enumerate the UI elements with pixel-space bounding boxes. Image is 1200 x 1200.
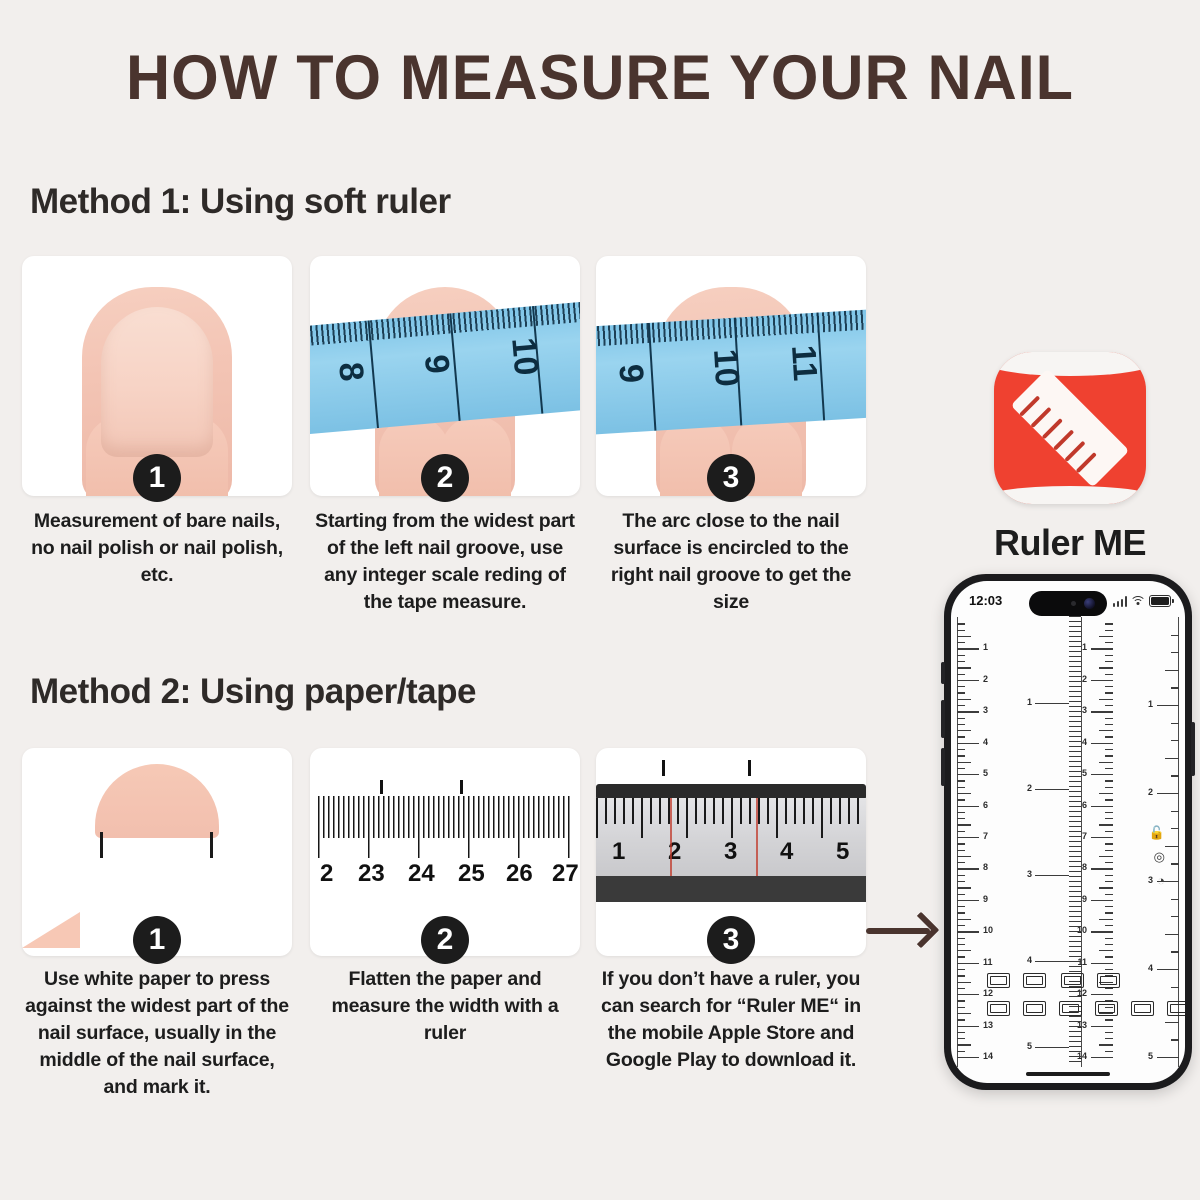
scale-minor-tick [1099, 856, 1113, 857]
scale-label: 1 [983, 642, 988, 652]
scale-minor-tick [957, 956, 965, 957]
scale-tick [1091, 994, 1113, 995]
scale-minor-tick [957, 749, 965, 750]
scale-minor-tick [957, 699, 971, 700]
scale-label: 6 [983, 800, 988, 810]
paper-mark-left [662, 760, 665, 776]
app-name-label: Ruler ME [940, 522, 1200, 564]
scale-tick [957, 806, 979, 807]
scale-minor-tick [1105, 912, 1113, 913]
scale-minor-tick [1105, 1032, 1113, 1033]
center-scale-tick [1035, 703, 1069, 704]
scale-minor-tick [957, 755, 965, 756]
scale-minor-tick [1105, 938, 1113, 939]
scale-label: 4 [983, 737, 988, 747]
center-scale-label: 1 [1027, 697, 1032, 707]
tape-measure: 8 9 10 [310, 301, 580, 435]
scale-minor-tick [1099, 636, 1113, 637]
scale-label: 5 [1082, 768, 1087, 778]
scale-tick [1091, 743, 1113, 744]
chip [1059, 1001, 1082, 1016]
tape-number: 11 [783, 344, 824, 382]
ruler-number: 23 [358, 860, 385, 888]
scale-minor-tick [957, 623, 965, 624]
scale-minor-tick [957, 718, 965, 719]
infographic-page: HOW TO MEASURE YOUR NAIL Method 1: Using… [0, 0, 1200, 1200]
scale-tick [957, 1057, 979, 1058]
camera-icon[interactable]: ◎ [1154, 849, 1165, 865]
scale-tick [1091, 806, 1113, 807]
ruler-number: 1 [612, 838, 625, 866]
scale-minor-tick [1099, 667, 1113, 668]
scale-tick [957, 994, 979, 995]
nail-through-paper [95, 764, 219, 838]
paper-mark-right [460, 780, 463, 794]
scale-minor-tick [957, 982, 971, 983]
method-2-heading: Method 2: Using paper/tape [30, 672, 476, 712]
scale-tick [1091, 837, 1113, 838]
scale-minor-tick [1105, 1038, 1113, 1039]
scale-minor-tick [1105, 718, 1113, 719]
scale-minor-tick [957, 818, 965, 819]
chip [987, 1001, 1010, 1016]
scale-minor-tick [957, 787, 965, 788]
scale-minor-tick [957, 1000, 965, 1001]
scale-minor-tick [1105, 812, 1113, 813]
tape-number: 10 [705, 348, 746, 388]
nail-plate [101, 307, 213, 457]
scale-minor-tick [1165, 670, 1179, 671]
chip [1095, 1001, 1118, 1016]
ruler-app-icon[interactable] [994, 352, 1146, 504]
pencil-mark-right [210, 832, 213, 858]
chip [1167, 1001, 1185, 1016]
scale-minor-tick [957, 894, 965, 895]
scale-minor-tick [1165, 934, 1179, 935]
center-scale-tick [1035, 789, 1069, 790]
scale-minor-tick [1171, 740, 1179, 741]
scale-minor-tick [1171, 652, 1179, 653]
scale-minor-tick [1171, 775, 1179, 776]
scale-minor-tick [957, 655, 965, 656]
scale-label: 7 [1082, 831, 1087, 841]
scale-minor-tick [957, 969, 965, 970]
scale-minor-tick [957, 762, 971, 763]
ruler-number: 27 [552, 860, 579, 888]
scale-tick [957, 931, 979, 932]
tape-number: 10 [503, 336, 545, 377]
scale-minor-tick [957, 636, 971, 637]
center-fine-ruler [1069, 611, 1081, 1063]
scale-minor-tick [1171, 1039, 1179, 1040]
wifi-icon [1131, 596, 1145, 607]
scale-minor-tick [1105, 705, 1113, 706]
scale-minor-tick [957, 919, 971, 920]
timer-icon[interactable]: ◔ [1157, 873, 1165, 888]
scale-label: 10 [983, 925, 993, 935]
red-marker-left [670, 798, 672, 876]
ruler-major-ticks [596, 798, 866, 838]
scale-minor-tick [1105, 736, 1113, 737]
scale-minor-tick [957, 912, 965, 913]
scale-minor-tick [1171, 723, 1179, 724]
ruler-number: 4 [780, 838, 793, 866]
scale-minor-tick [957, 692, 965, 693]
tape-number: 9 [610, 363, 650, 384]
scale-minor-tick [957, 944, 965, 945]
scale-minor-tick [1105, 749, 1113, 750]
scale-tick [957, 837, 979, 838]
scale-label: 1 [1148, 699, 1153, 709]
paper-mark-left [380, 780, 383, 794]
scale-minor-tick [1171, 987, 1179, 988]
scale-minor-tick [1099, 699, 1113, 700]
scale-tick [957, 1026, 979, 1027]
scale-minor-tick [1171, 863, 1179, 864]
scale-minor-tick [957, 667, 971, 668]
scale-minor-tick [1105, 642, 1113, 643]
scale-minor-tick [957, 730, 971, 731]
scale-minor-tick [1165, 846, 1179, 847]
scale-minor-tick [957, 1019, 965, 1020]
scale-minor-tick [957, 950, 971, 951]
scale-minor-tick [1105, 686, 1113, 687]
scale-tick [957, 774, 979, 775]
scale-minor-tick [1105, 850, 1113, 851]
cellular-signal-icon [1113, 596, 1128, 607]
scale-tick [957, 868, 979, 869]
scale-tick [1091, 963, 1113, 964]
step-badge-m1-1: 1 [133, 454, 181, 502]
phone-screen: 12:03 1234567891011121314 12345678910111… [951, 581, 1185, 1083]
scale-tick [1157, 969, 1179, 970]
chip [1023, 1001, 1046, 1016]
scale-minor-tick [957, 736, 965, 737]
scale-label: 5 [983, 768, 988, 778]
scale-minor-tick [1099, 887, 1113, 888]
silent-switch[interactable] [941, 662, 945, 684]
scale-edge [1178, 617, 1179, 1067]
scale-minor-tick [957, 799, 965, 800]
scale-label: 12 [983, 988, 993, 998]
scale-tick [1091, 648, 1113, 649]
scale-minor-tick [1099, 730, 1113, 731]
scale-minor-tick [957, 705, 965, 706]
status-indicators [1113, 595, 1172, 607]
ruler-icon [1011, 369, 1130, 488]
scale-minor-tick [957, 630, 965, 631]
scale-minor-tick [1105, 780, 1113, 781]
scale-minor-tick [1105, 906, 1113, 907]
scale-minor-tick [1171, 687, 1179, 688]
center-scale-tick [1035, 1047, 1069, 1048]
scale-minor-tick [957, 1007, 965, 1008]
scale-label: 2 [1082, 674, 1087, 684]
ruler-major-ticks [318, 796, 572, 858]
left-scale: 1234567891011121314 [957, 617, 1015, 1067]
center-scale-tick [1035, 875, 1069, 876]
scale-minor-tick [957, 862, 965, 863]
scale-minor-tick [1105, 655, 1113, 656]
scale-tick [1157, 793, 1179, 794]
scale-tick [1091, 900, 1113, 901]
scale-minor-tick [1171, 951, 1179, 952]
ruler-number: 5 [836, 838, 849, 866]
scale-label: 2 [983, 674, 988, 684]
scale-label: 8 [983, 862, 988, 872]
scale-minor-tick [1171, 916, 1179, 917]
scale-minor-tick [1105, 755, 1113, 756]
scale-tick [957, 711, 979, 712]
scale-minor-tick [957, 1038, 965, 1039]
step-badge-m2-2: 2 [421, 916, 469, 964]
scale-minor-tick [1105, 692, 1113, 693]
ruler-bottom-edge [596, 876, 866, 902]
scale-minor-tick [1105, 768, 1113, 769]
center-scale-label: 4 [1027, 955, 1032, 965]
phone-mockup: 12:03 1234567891011121314 12345678910111… [944, 574, 1192, 1090]
sensor-dot-icon [1071, 601, 1076, 606]
scale-minor-tick [957, 812, 965, 813]
scale-tick [1091, 680, 1113, 681]
scale-minor-tick [1105, 623, 1113, 624]
scale-minor-tick [957, 768, 965, 769]
chip [1097, 973, 1120, 988]
tape-number: 9 [415, 353, 456, 375]
scale-label: 6 [1082, 800, 1087, 810]
scale-minor-tick [957, 843, 965, 844]
scale-label: 13 [983, 1020, 993, 1030]
right-arrow-icon [866, 928, 930, 934]
step-caption-m2-2: Flatten the paper and measure the width … [308, 966, 582, 1047]
center-scale-label: 5 [1027, 1041, 1032, 1051]
scale-label: 11 [983, 957, 993, 967]
scale-tick [1091, 1057, 1113, 1058]
scale-minor-tick [957, 975, 965, 976]
scale-minor-tick [1171, 899, 1179, 900]
scale-tick [1091, 1026, 1113, 1027]
scale-minor-tick [1099, 793, 1113, 794]
scale-tick [957, 963, 979, 964]
step-badge-m1-3: 3 [707, 454, 755, 502]
scale-minor-tick [1105, 831, 1113, 832]
tape-measure: 9 10 11 [596, 309, 866, 435]
front-camera-icon [1084, 598, 1095, 609]
volume-up-button[interactable] [941, 700, 945, 738]
step-caption-m2-1: Use white paper to press against the wid… [20, 966, 294, 1101]
scale-minor-tick [1105, 661, 1113, 662]
scale-minor-tick [1099, 1044, 1113, 1045]
scale-minor-tick [1105, 969, 1113, 970]
scale-minor-tick [957, 780, 965, 781]
scale-minor-tick [957, 1013, 971, 1014]
scale-tick [1091, 774, 1113, 775]
scale-minor-tick [957, 674, 965, 675]
scale-minor-tick [957, 887, 971, 888]
method-1-heading: Method 1: Using soft ruler [30, 182, 451, 222]
scale-minor-tick [1099, 824, 1113, 825]
step-caption-m2-3: If you don’t have a ruler, you can searc… [594, 966, 868, 1074]
step-caption-m1-1: Measurement of bare nails, no nail polis… [20, 508, 294, 589]
scale-minor-tick [1105, 799, 1113, 800]
scale-edge [1081, 617, 1082, 1067]
scale-tick [957, 743, 979, 744]
scale-minor-tick [1105, 894, 1113, 895]
scale-minor-tick [1171, 635, 1179, 636]
scale-minor-tick [957, 856, 971, 857]
ruler-number: 25 [458, 860, 485, 888]
scale-minor-tick [1105, 843, 1113, 844]
scale-label: 1 [1082, 642, 1087, 652]
scale-tick [1091, 931, 1113, 932]
center-scale-tick [1035, 961, 1069, 962]
scale-minor-tick [957, 881, 965, 882]
scale-minor-tick [1171, 828, 1179, 829]
volume-down-button[interactable] [941, 748, 945, 786]
scale-minor-tick [1099, 950, 1113, 951]
scale-minor-tick [957, 661, 965, 662]
scale-minor-tick [1171, 811, 1179, 812]
page-title: HOW TO MEASURE YOUR NAIL [18, 42, 1182, 114]
step-caption-m1-3: The arc close to the nail surface is enc… [594, 508, 868, 616]
scale-minor-tick [957, 850, 965, 851]
ruler-number: 2 [320, 860, 333, 888]
dynamic-island [1029, 591, 1107, 616]
lock-icon[interactable]: 🔓 [1149, 825, 1165, 841]
scale-tick [957, 900, 979, 901]
scale-label: 9 [1082, 894, 1087, 904]
scale-minor-tick [957, 906, 965, 907]
metal-ruler: 1 2 3 4 5 [596, 798, 866, 876]
scale-tick [1157, 1057, 1179, 1058]
ruler-number: 26 [506, 860, 533, 888]
step-caption-m1-2: Starting from the widest part of the lef… [308, 508, 582, 616]
step-badge-m2-3: 3 [707, 916, 755, 964]
scale-label: 4 [1082, 737, 1087, 747]
scale-minor-tick [1105, 787, 1113, 788]
pencil-mark-left [100, 832, 103, 858]
paper-ruler: 2 23 24 25 26 27 [310, 796, 580, 914]
scale-minor-tick [957, 1051, 965, 1052]
scale-label: 2 [1148, 787, 1153, 797]
middle-scale: 1234567891011121314 [1055, 617, 1113, 1067]
scale-tick [957, 648, 979, 649]
scale-minor-tick [1105, 944, 1113, 945]
scale-minor-tick [1105, 1051, 1113, 1052]
paper-mark-right [748, 760, 751, 776]
step-badge-m2-1: 1 [133, 916, 181, 964]
chip [1131, 1001, 1154, 1016]
status-time: 12:03 [969, 593, 1002, 608]
step-badge-m1-2: 2 [421, 454, 469, 502]
right-scale: 12345 [1121, 617, 1179, 1067]
home-indicator[interactable] [1026, 1072, 1110, 1076]
scale-minor-tick [1105, 988, 1113, 989]
scale-minor-tick [957, 724, 965, 725]
ruler-number: 24 [408, 860, 435, 888]
scale-label: 3 [1082, 705, 1087, 715]
scale-minor-tick [1099, 762, 1113, 763]
scale-minor-tick [957, 875, 965, 876]
scale-minor-tick [1165, 1022, 1179, 1023]
scale-label: 3 [983, 705, 988, 715]
chip [1023, 973, 1046, 988]
scale-tick [957, 680, 979, 681]
chip [1061, 973, 1084, 988]
scale-minor-tick [1105, 674, 1113, 675]
scale-minor-tick [1105, 630, 1113, 631]
scale-tick [1157, 705, 1179, 706]
scale-label: 14 [983, 1051, 993, 1061]
scale-minor-tick [1105, 956, 1113, 957]
scale-minor-tick [1105, 1019, 1113, 1020]
scale-minor-tick [957, 925, 965, 926]
center-scale-label: 3 [1027, 869, 1032, 879]
scale-tick [1091, 868, 1113, 869]
ruler-number: 3 [724, 838, 737, 866]
scale-minor-tick [1105, 881, 1113, 882]
power-button[interactable] [1191, 722, 1195, 776]
scale-minor-tick [957, 1044, 971, 1045]
scale-minor-tick [957, 686, 965, 687]
chip [987, 973, 1010, 988]
tape-number: 8 [330, 361, 371, 383]
scale-label: 5 [1148, 1051, 1153, 1061]
scale-minor-tick [957, 793, 971, 794]
scale-label: 9 [983, 894, 988, 904]
scale-label: 3 [1148, 875, 1153, 885]
scale-label: 7 [983, 831, 988, 841]
scale-minor-tick [957, 642, 965, 643]
scale-tick [1091, 711, 1113, 712]
scale-minor-tick [957, 824, 971, 825]
scale-label: 8 [1082, 862, 1087, 872]
finger-corner [22, 912, 80, 948]
scale-minor-tick [1099, 919, 1113, 920]
red-marker-right [756, 798, 758, 876]
center-scale-label: 2 [1027, 783, 1032, 793]
scale-minor-tick [957, 1032, 965, 1033]
scale-minor-tick [957, 988, 965, 989]
scale-minor-tick [957, 938, 965, 939]
scale-minor-tick [957, 831, 965, 832]
scale-minor-tick [1105, 724, 1113, 725]
scale-minor-tick [1105, 862, 1113, 863]
scale-minor-tick [1105, 875, 1113, 876]
scale-minor-tick [1105, 925, 1113, 926]
scale-minor-tick [1165, 758, 1179, 759]
battery-icon [1149, 595, 1171, 607]
scale-label: 4 [1148, 963, 1153, 973]
scale-minor-tick [1105, 818, 1113, 819]
